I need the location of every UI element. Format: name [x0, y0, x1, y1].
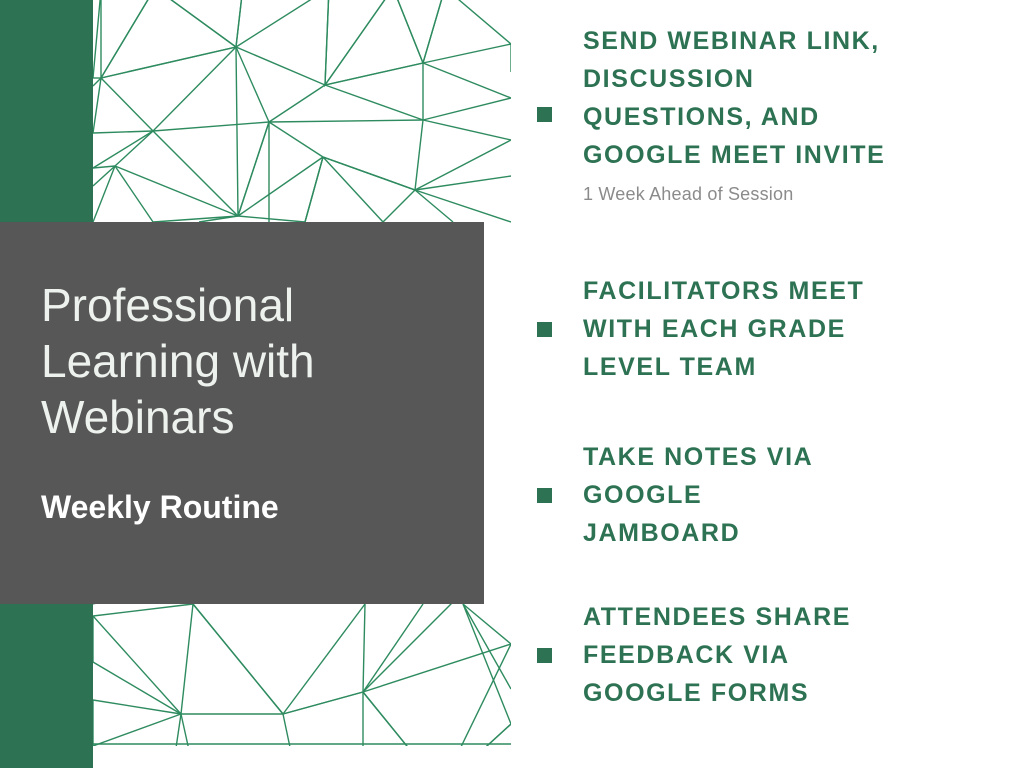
list-item: Send Webinar Link, Discussion Questions,… [511, 22, 1024, 206]
list-item-body: Send Webinar Link, Discussion Questions,… [583, 22, 1024, 206]
square-bullet-icon [537, 322, 552, 337]
list-item: Attendees Share Feedback Via Google Form… [511, 598, 1024, 712]
list-item-body: Attendees Share Feedback Via Google Form… [583, 598, 1024, 712]
list-item: Facilitators Meet With Each Grade Level … [511, 272, 1024, 386]
slide-canvas: Professional Learning with Webinars Week… [0, 0, 1024, 768]
square-bullet-icon [537, 488, 552, 503]
list-item-title: Take Notes Via Google Jamboard [583, 438, 1024, 552]
list-item-title: Attendees Share Feedback Via Google Form… [583, 598, 1024, 712]
list-item-body: Facilitators Meet With Each Grade Level … [583, 272, 1024, 386]
page-subtitle: Weekly Routine [41, 445, 444, 526]
list-item: Take Notes Via Google Jamboard [511, 438, 1024, 552]
square-bullet-icon [537, 648, 552, 663]
list-item-title: Send Webinar Link, Discussion Questions,… [583, 22, 1024, 174]
list-item-note: 1 Week Ahead of Session [583, 182, 1024, 206]
list-item-body: Take Notes Via Google Jamboard [583, 438, 1024, 552]
list-item-title: Facilitators Meet With Each Grade Level … [583, 272, 1024, 386]
square-bullet-icon [537, 107, 552, 122]
title-card: Professional Learning with Webinars Week… [0, 222, 484, 604]
page-title: Professional Learning with Webinars [41, 277, 441, 445]
routine-steps-list: Send Webinar Link, Discussion Questions,… [511, 0, 1024, 768]
